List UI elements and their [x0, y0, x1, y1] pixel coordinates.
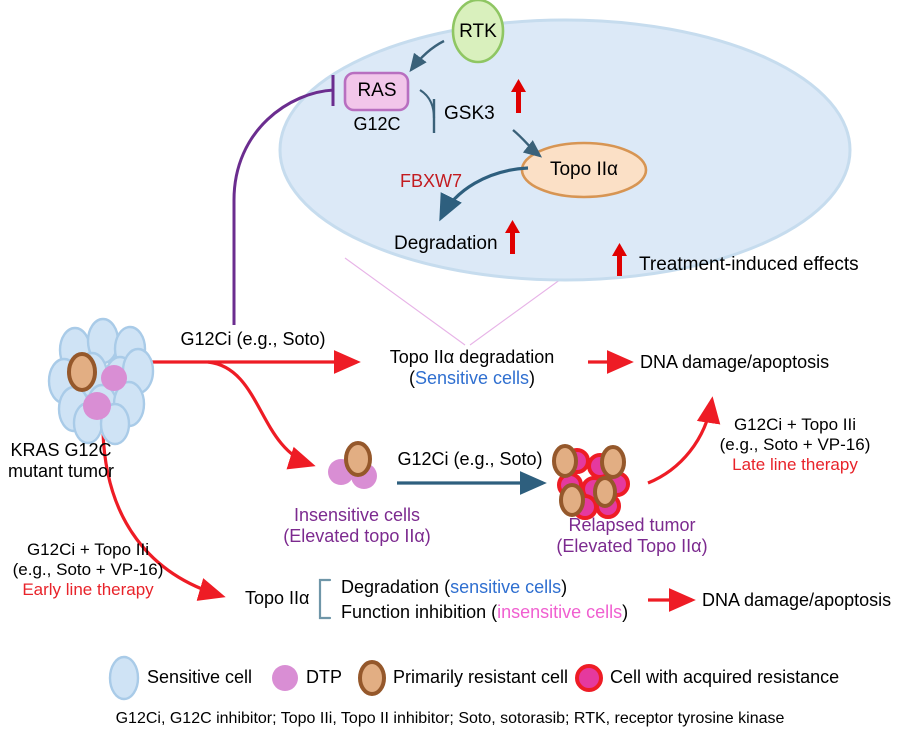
tumor-label-line1: KRAS G12C — [8, 440, 114, 461]
g12ci-mid-label: G12Ci (e.g., Soto) — [397, 449, 542, 470]
sensitive-cells-text: Sensitive cells — [415, 368, 529, 388]
dtp-cell-1 — [101, 365, 127, 391]
dna-damage-top-label: DNA damage/apoptosis — [640, 352, 829, 373]
gsk3-label: GSK3 — [444, 103, 495, 125]
insensitive-line2: (Elevated topo IIα) — [283, 526, 430, 547]
bracket-insensitive-cells-text: insensitive cells — [497, 602, 622, 622]
ras-label: RAS — [357, 80, 396, 102]
early-therapy-line3: Early line therapy — [13, 580, 164, 600]
figure-canvas: RTK RAS G12C GSK3 FBXW7 Topo IIα Degrada… — [0, 0, 900, 737]
topo-bottom-label: Topo IIα — [245, 588, 309, 609]
bracket-sensitive-cells-text: sensitive cells — [450, 577, 561, 597]
tumor-label-line2: mutant tumor — [8, 461, 114, 482]
rtk-label: RTK — [459, 21, 497, 43]
late-line-therapy-label: G12Ci + Topo IIi (e.g., Soto + VP-16) La… — [720, 415, 871, 475]
g12ci-top-label: G12Ci (e.g., Soto) — [180, 329, 325, 350]
kras-tumor-cluster — [49, 319, 153, 444]
insensitive-cells-cluster — [328, 443, 377, 489]
relapsed-tumor-label: Relapsed tumor (Elevated Topo IIα) — [556, 515, 707, 557]
relapsed-tumor-cluster — [554, 446, 628, 518]
legend-label-acquired-resistance: Cell with acquired resistance — [610, 667, 839, 688]
footnote: G12Ci, G12C inhibitor; Topo IIi, Topo II… — [116, 710, 785, 729]
legend-sensitive-cell-icon — [110, 657, 138, 699]
late-therapy-line3: Late line therapy — [720, 455, 871, 475]
insensitive-line1: Insensitive cells — [283, 505, 430, 526]
early-therapy-line1: G12Ci + Topo IIi — [13, 540, 164, 560]
legend-label-sensitive-cell: Sensitive cell — [147, 667, 252, 688]
topo-degradation-line1: Topo IIα degradation — [390, 347, 555, 368]
tumor-label: KRAS G12C mutant tumor — [8, 440, 114, 482]
arrow-tumor-to-insensitive — [208, 362, 312, 465]
late-therapy-line1: G12Ci + Topo IIi — [720, 415, 871, 435]
fbxw7-label: FBXW7 — [400, 171, 462, 192]
topo-degradation-label: Topo IIα degradation (Sensitive cells) — [390, 347, 555, 389]
treatment-induced-effects-label: Treatment-induced effects — [639, 254, 859, 276]
late-therapy-line2: (e.g., Soto + VP-16) — [720, 435, 871, 455]
legend-label-dtp: DTP — [306, 667, 342, 688]
degradation-label: Degradation — [394, 233, 498, 255]
legend-primarily-resistant-icon — [360, 662, 384, 694]
topo-degradation-line2: (Sensitive cells) — [390, 368, 555, 389]
outcome-bracket — [320, 580, 330, 618]
relapsed-line2: (Elevated Topo IIα) — [556, 536, 707, 557]
primarily-resistant-cell — [69, 354, 95, 390]
relapsed-line1: Relapsed tumor — [556, 515, 707, 536]
bracket-outcome-line2: Function inhibition (insensitive cells) — [341, 602, 628, 623]
legend-acquired-resistance-icon — [577, 666, 601, 690]
dtp-cell-2 — [83, 392, 111, 420]
arrow-relapsed-to-dna — [648, 400, 712, 483]
early-therapy-line2: (e.g., Soto + VP-16) — [13, 560, 164, 580]
legend-dtp-icon — [272, 665, 298, 691]
bracket-outcome-line1: Degradation (sensitive cells) — [341, 577, 567, 598]
insensitive-cells-label: Insensitive cells (Elevated topo IIα) — [283, 505, 430, 547]
legend-label-primarily-resistant: Primarily resistant cell — [393, 667, 568, 688]
early-line-therapy-label: G12Ci + Topo IIi (e.g., Soto + VP-16) Ea… — [13, 540, 164, 600]
topo2a-label: Topo IIα — [550, 159, 618, 181]
dna-damage-bottom-label: DNA damage/apoptosis — [702, 590, 891, 611]
ras-sub-label: G12C — [353, 114, 400, 135]
